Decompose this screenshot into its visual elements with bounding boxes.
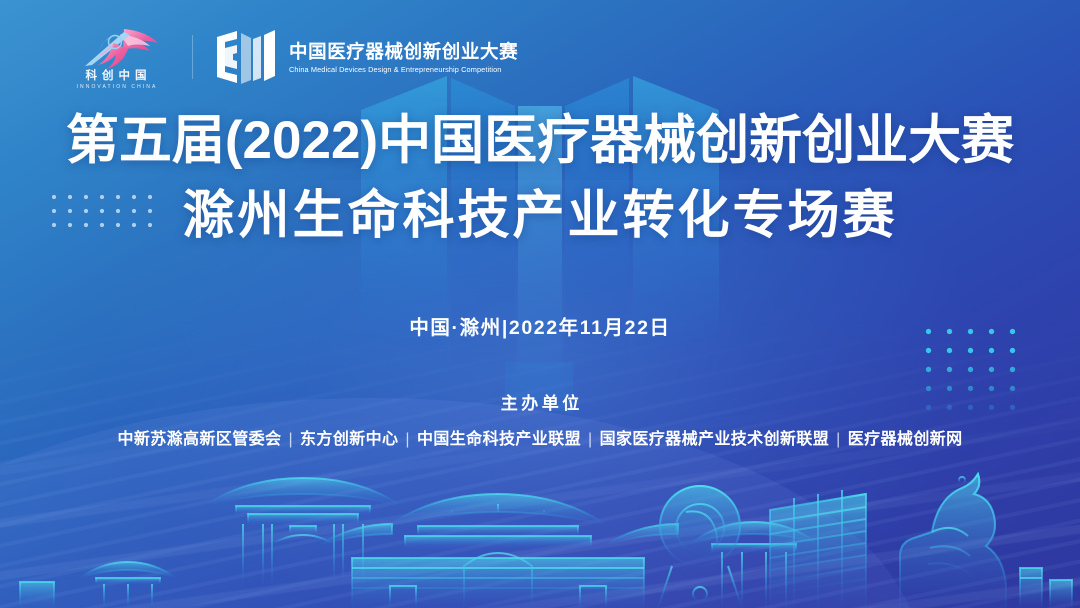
page-subtitle: 滁州生命科技产业转化专场赛 <box>0 185 1080 247</box>
organizers-list: 中新苏滁高新区管委会|东方创新中心|中国生命科技产业联盟|国家医疗器械产业技术创… <box>0 425 1080 449</box>
organizer-name: 东方创新中心 <box>300 431 398 448</box>
organizer-separator: | <box>581 431 600 448</box>
kechuang-logo-en: INNOVATION CHINA <box>75 84 158 90</box>
kechuang-logo-cn: 科创中国 <box>81 70 152 82</box>
cmdc-logo-cn: 中国医疗器械创新创业大赛 <box>289 41 518 62</box>
logo-divider <box>192 35 193 79</box>
organizer-name: 医疗器械创新网 <box>848 431 963 448</box>
logo-kechuang-zhongguo: 科创中国 INNOVATION CHINA <box>62 25 170 90</box>
organizer-separator: | <box>398 431 417 448</box>
organizer-name: 中新苏滁高新区管委会 <box>117 431 281 448</box>
page-title: 第五届(2022)中国医疗器械创新创业大赛 <box>0 110 1080 172</box>
event-poster: 科创中国 INNOVATION CHINA 中国医疗器械创新创 <box>0 0 1080 608</box>
organizer-name: 中国生命科技产业联盟 <box>417 431 581 448</box>
headline-block: 第五届(2022)中国医疗器械创新创业大赛 滁州生命科技产业转化专场赛 <box>0 110 1080 247</box>
bird-logo-icon <box>70 25 162 69</box>
organizer-separator: | <box>829 431 848 448</box>
organizer-separator: | <box>281 431 300 448</box>
organizers-label: 主办单位 <box>0 389 1080 414</box>
light-rays <box>0 318 1080 608</box>
logo-cmdc: 中国医疗器械创新创业大赛 China Medical Devices Desig… <box>215 28 518 86</box>
cmdc-logo-en: China Medical Devices Design & Entrepren… <box>289 65 511 74</box>
logo-bar: 科创中国 INNOVATION CHINA 中国医疗器械创新创 <box>62 22 518 92</box>
open-book-logo-icon <box>215 28 277 86</box>
organizer-name: 国家医疗器械产业技术创新联盟 <box>600 431 830 448</box>
location-date: 中国·滁州|2022年11月22日 <box>0 311 1080 340</box>
